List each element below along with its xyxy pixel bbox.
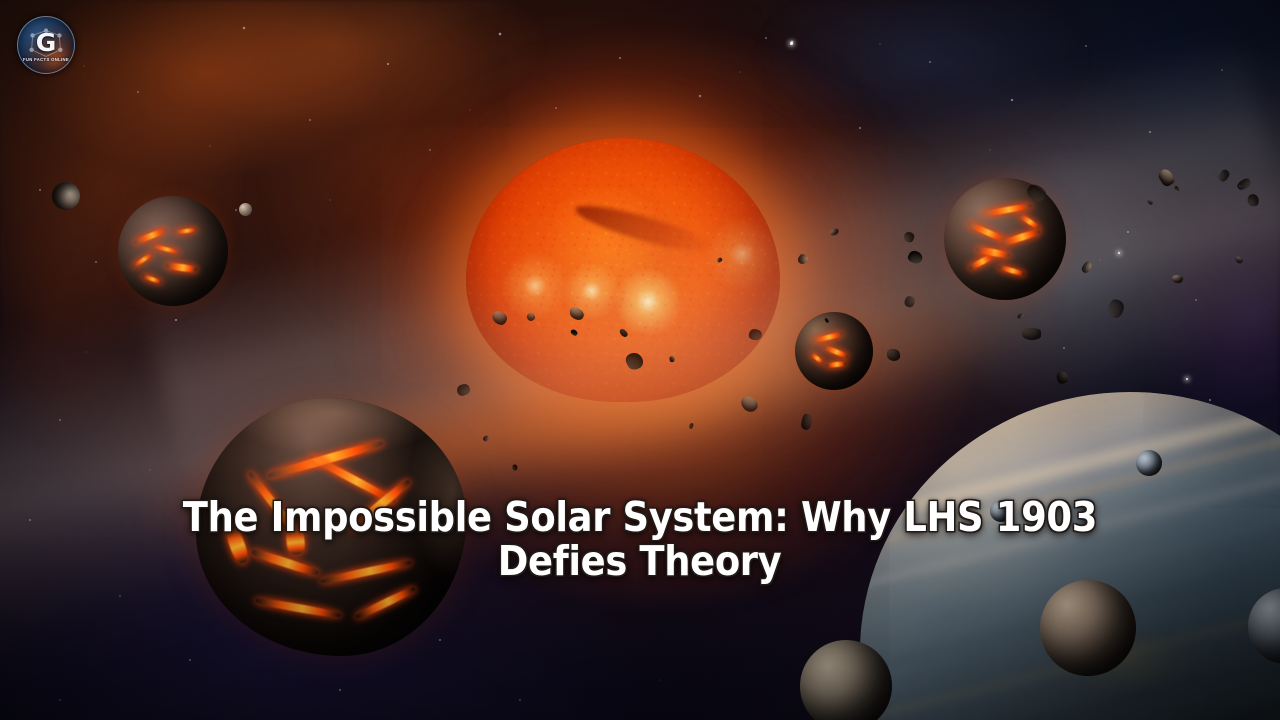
lava-crack (821, 345, 848, 360)
volcanic-planet-left (118, 196, 228, 306)
fun-facts-online-logo-icon[interactable]: G FUN FACTS ONLINE (17, 16, 75, 74)
moon-gas-giant-left (990, 500, 1012, 522)
lava-crack (998, 265, 1025, 277)
asteroid (903, 231, 914, 242)
lava-crack (166, 262, 197, 273)
thumbnail-canvas: G FUN FACTS ONLINE The Impossible Solar … (0, 0, 1280, 720)
lava-crack (142, 274, 162, 284)
logo-monogram: G (36, 30, 57, 55)
moon-gas-giant-upper (1136, 450, 1162, 476)
lava-crack (132, 251, 155, 268)
logo-brand-name: FUN FACTS ONLINE (23, 57, 69, 62)
lava-crack (1000, 228, 1042, 248)
volcanic-planet-right (944, 178, 1066, 300)
lava-crack (151, 243, 180, 254)
lava-crack (967, 221, 1007, 243)
asteroid (1171, 274, 1183, 283)
asteroid (887, 349, 901, 362)
bright-star (790, 42, 793, 45)
asteroid (1022, 328, 1041, 339)
moon-gas-giant-large (1040, 580, 1136, 676)
lava-crack (1018, 213, 1041, 231)
moon-far-left (52, 182, 80, 210)
foreground-lava-asteroid (196, 398, 466, 656)
lava-crack (826, 361, 847, 368)
lava-crack (175, 227, 197, 234)
asteroid (749, 329, 762, 340)
lava-crack (134, 227, 169, 245)
lava-crack (969, 253, 996, 271)
lava-crack (810, 351, 824, 364)
moon-upper-mid (239, 203, 252, 216)
volcanic-planet-mid (795, 312, 873, 390)
lava-crack (812, 332, 843, 344)
